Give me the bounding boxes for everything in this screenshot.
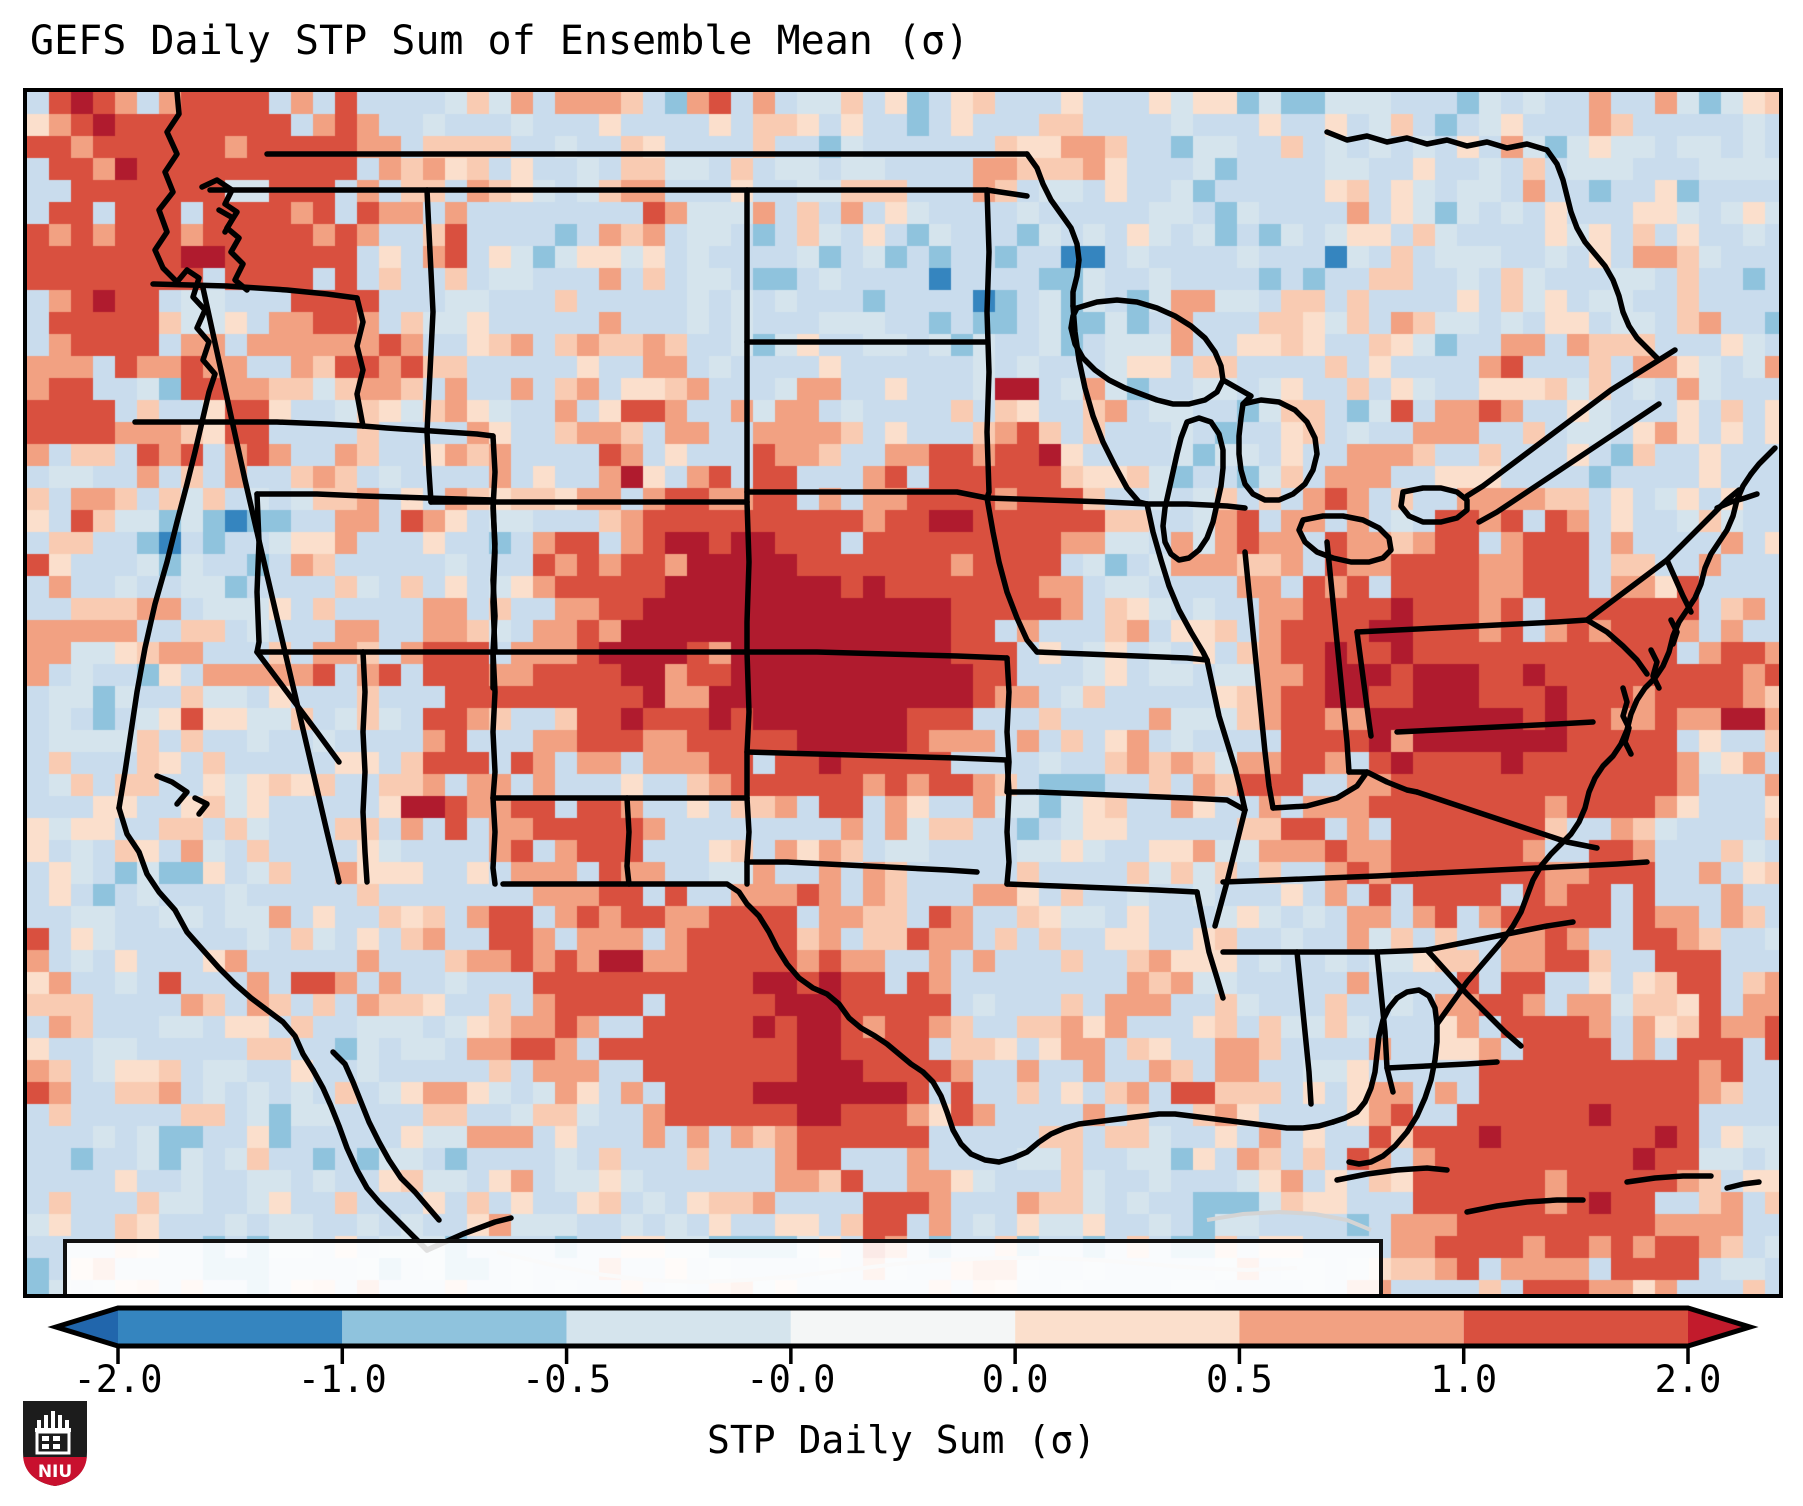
colorbar-tick-label: -0.5 — [522, 1358, 611, 1401]
info-box: Valid: 2025-10-24 12:00 UTC to 2025-10-2… — [63, 1239, 1383, 1298]
colorbar-tick-label: 2.0 — [1655, 1358, 1722, 1401]
geography-layer — [27, 92, 1779, 1294]
colorbar-segment — [342, 1308, 566, 1346]
page-title: GEFS Daily STP Sum of Ensemble Mean (σ) — [30, 18, 1770, 64]
colorbar-tick-label: -2.0 — [73, 1358, 162, 1401]
colorbar-tick-label: -1.0 — [298, 1358, 387, 1401]
colorbar-segment — [118, 1308, 342, 1346]
colorbar-segment — [1239, 1308, 1463, 1346]
colorbar[interactable]: -2.0-1.0-0.5-0.00.00.51.02.0 STP Daily S… — [0, 1298, 1803, 1506]
colorbar-tick-label: 0.0 — [982, 1358, 1049, 1401]
colorbar-extend-high — [1688, 1308, 1750, 1346]
colorbar-segment — [567, 1308, 791, 1346]
colorbar-extend-low — [56, 1308, 118, 1346]
colorbar-tick-label: -0.0 — [746, 1358, 835, 1401]
map-axes[interactable]: Valid: 2025-10-24 12:00 UTC to 2025-10-2… — [23, 88, 1783, 1298]
figure-root: GEFS Daily STP Sum of Ensemble Mean (σ) — [0, 0, 1803, 1506]
colorbar-tick-label: 0.5 — [1206, 1358, 1273, 1401]
colorbar-svg[interactable] — [0, 1298, 1803, 1416]
colorbar-segment — [1015, 1308, 1239, 1346]
niu-logo-text: NIU — [38, 1462, 72, 1482]
colorbar-segment — [791, 1308, 1015, 1346]
colorbar-segment — [1464, 1308, 1688, 1346]
colorbar-segments — [56, 1308, 1750, 1346]
niu-logo: NIU — [18, 1396, 92, 1492]
colorbar-axis-label: STP Daily Sum (σ) — [0, 1418, 1803, 1462]
colorbar-tick-label: 1.0 — [1430, 1358, 1497, 1401]
